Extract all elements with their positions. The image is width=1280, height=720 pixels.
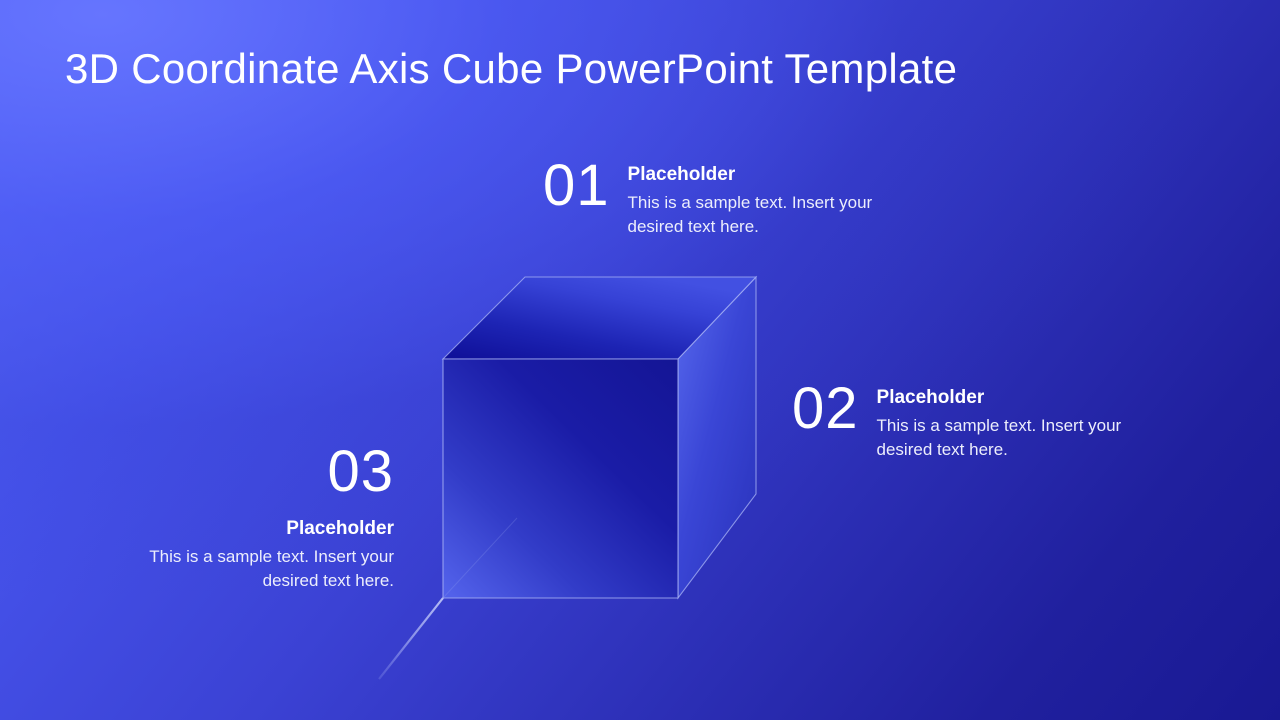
callout-02[interactable]: 02 Placeholder This is a sample text. In… [792, 380, 1127, 462]
callout-02-title: Placeholder [877, 386, 1127, 410]
cube-diagram [0, 0, 1280, 720]
callout-01-title: Placeholder [628, 163, 878, 187]
callout-01-text: Placeholder This is a sample text. Inser… [628, 157, 878, 239]
slide-canvas: 3D Coordinate Axis Cube PowerPoint Templ… [0, 0, 1280, 720]
callout-03[interactable]: 03 Placeholder This is a sample text. In… [140, 443, 394, 593]
cube-face-front [443, 359, 678, 598]
callout-02-number: 02 [792, 380, 859, 438]
callout-03-title: Placeholder [140, 517, 394, 541]
callout-01-number: 01 [543, 157, 610, 215]
callout-01[interactable]: 01 Placeholder This is a sample text. In… [543, 157, 878, 239]
callout-02-body: This is a sample text. Insert your desir… [877, 414, 1127, 462]
callout-01-body: This is a sample text. Insert your desir… [628, 191, 878, 239]
callout-02-text: Placeholder This is a sample text. Inser… [877, 380, 1127, 462]
callout-03-body: This is a sample text. Insert your desir… [140, 545, 394, 593]
callout-03-number: 03 [140, 443, 394, 501]
depth-axis-line [379, 598, 443, 679]
